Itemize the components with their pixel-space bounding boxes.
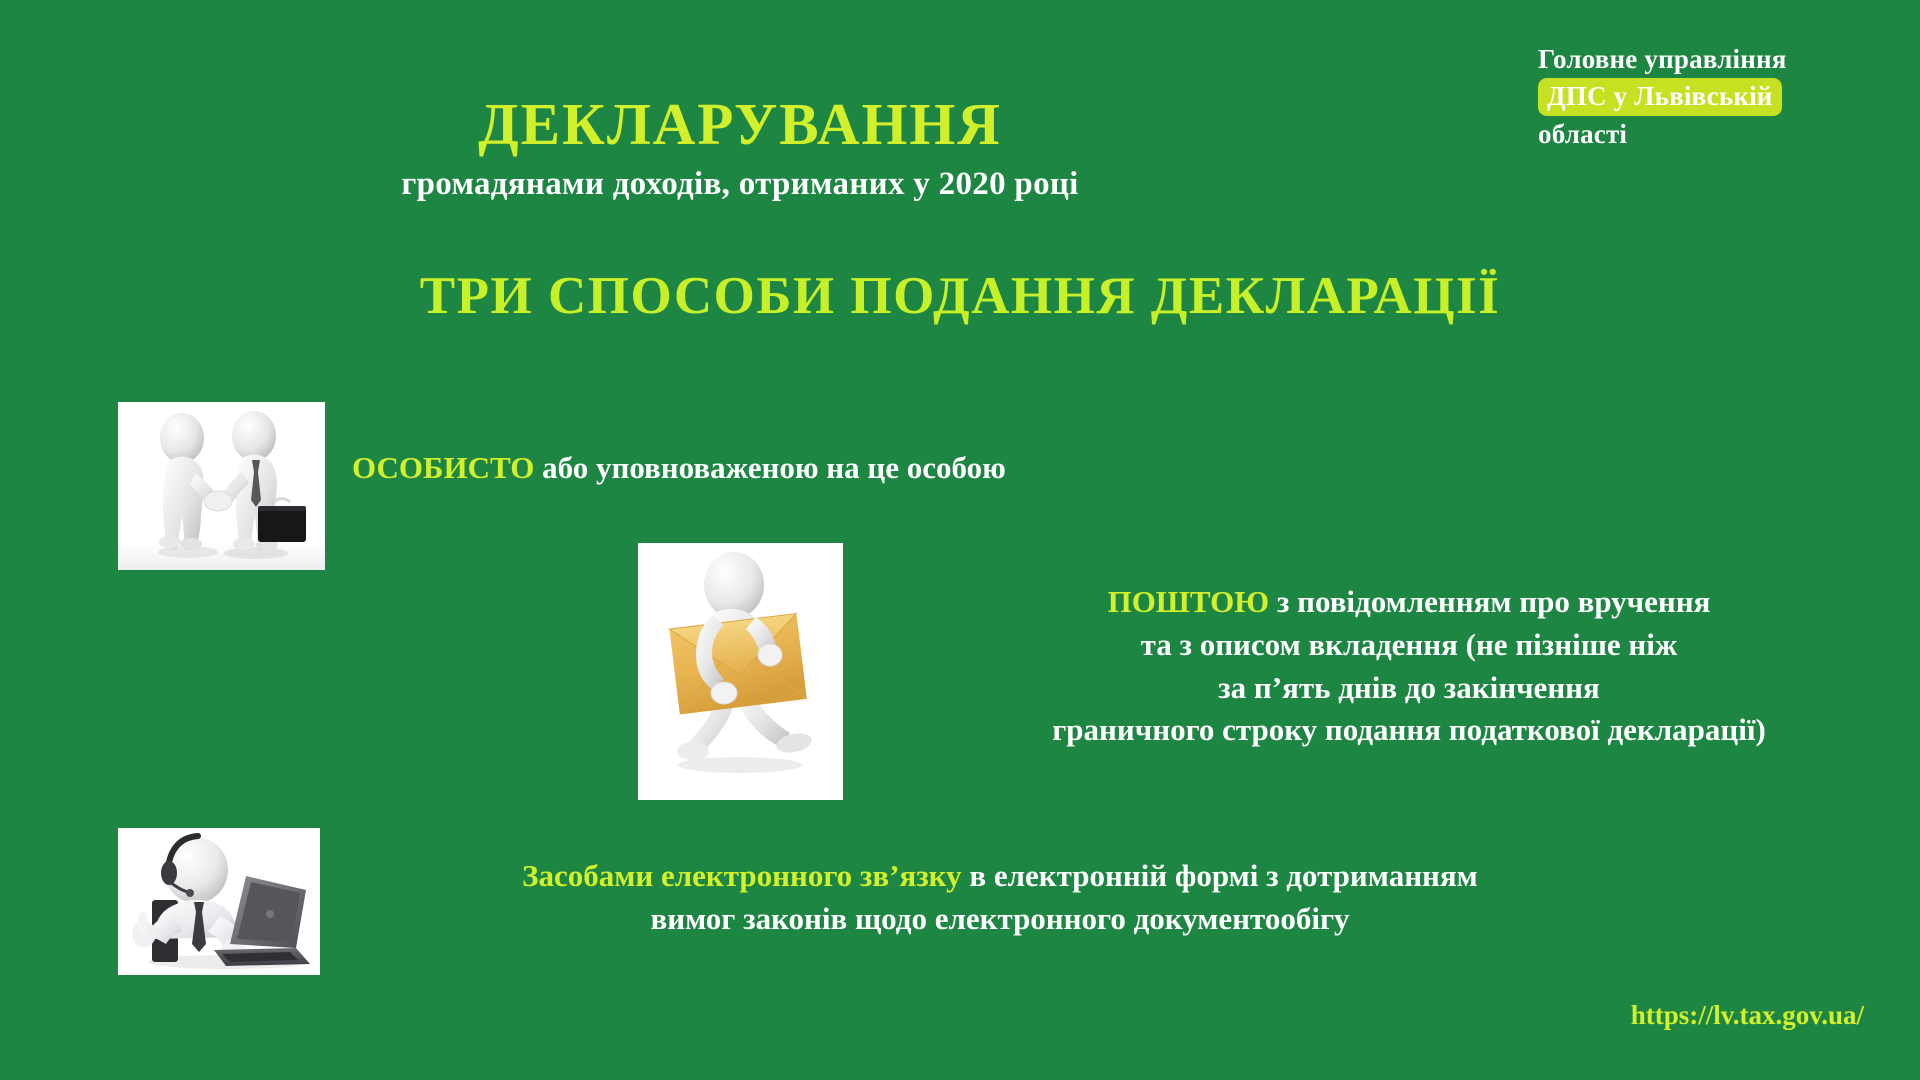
organisation-block: Головне управління ДПС у Львівській обла… <box>1538 42 1868 152</box>
method-2-line-3: за п’ять днів до закінчення <box>905 667 1913 710</box>
method-3-accent: Засобами електронного зв’язку <box>522 858 961 893</box>
title-group: ДЕКЛАРУВАННЯ громадянами доходів, отрима… <box>0 95 1480 203</box>
method-3-text: Засобами електронного зв’язку в електрон… <box>340 855 1660 941</box>
method-2-text: ПОШТОЮ з повідомленням про вручення та з… <box>905 581 1913 752</box>
method-3-line-1: Засобами електронного зв’язку в електрон… <box>340 855 1660 898</box>
method-1-rest: або уповноваженою на це особою <box>534 450 1005 485</box>
method-2-accent: ПОШТОЮ <box>1108 584 1270 619</box>
method-2-line-2: та з описом вкладення (не пізніше ніж <box>905 624 1913 667</box>
organisation-line-2-highlight: ДПС у Львівській <box>1538 78 1782 116</box>
method-2-line-4: граничного строку подання податкової дек… <box>905 709 1913 752</box>
laptop-operator-photo <box>118 828 320 975</box>
method-1-accent: ОСОБИСТО <box>352 450 534 485</box>
method-2-line-1: ПОШТОЮ з повідомленням про вручення <box>905 581 1913 624</box>
method-2-rest: з повідомленням про вручення <box>1269 584 1710 619</box>
method-1-text: ОСОБИСТО або уповноваженою на це особою <box>352 447 1352 490</box>
main-title: ДЕКЛАРУВАННЯ <box>0 95 1480 154</box>
section-title: ТРИ СПОСОБИ ПОДАННЯ ДЕКЛАРАЦІЇ <box>0 266 1920 326</box>
subtitle: громадянами доходів, отриманих у 2020 ро… <box>0 166 1480 203</box>
envelope-carrier-photo <box>638 543 843 800</box>
method-3-line-2: вимог законів щодо електронного документ… <box>340 898 1660 941</box>
poster-canvas: Головне управління ДПС у Львівській обла… <box>0 0 1920 1080</box>
website-link[interactable]: https://lv.tax.gov.ua/ <box>1631 1000 1864 1031</box>
method-3-rest: в електронній формі з дотриманням <box>962 858 1478 893</box>
organisation-line-1: Головне управління <box>1538 42 1868 77</box>
handshake-photo <box>118 402 325 570</box>
organisation-line-3: області <box>1538 117 1868 152</box>
